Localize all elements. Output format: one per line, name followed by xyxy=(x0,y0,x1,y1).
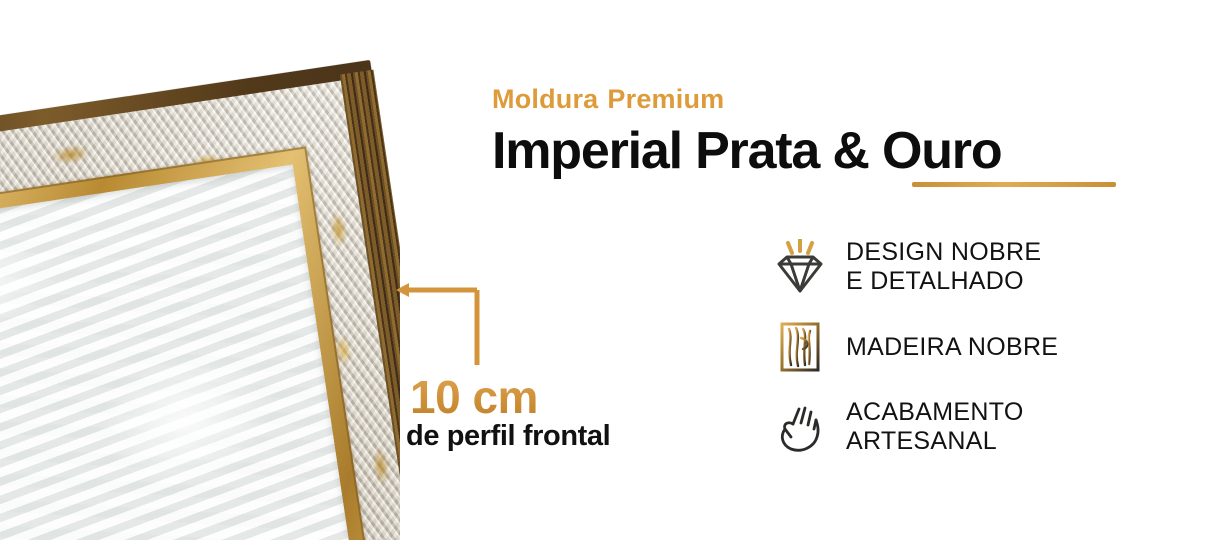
feature-label: DESIGN NOBRE E DETALHADO xyxy=(846,238,1041,296)
headline-block: MolduraPremium Imperial Prata & Ouro xyxy=(492,84,1152,179)
title-gold-underline xyxy=(912,182,1116,187)
page-title-row: Imperial Prata & Ouro xyxy=(492,124,1001,179)
feature-label: ACABAMENTO ARTESANAL xyxy=(846,398,1024,456)
diamond-sparkle-icon xyxy=(772,238,828,296)
eyebrow-word-premium: Premium xyxy=(607,84,724,114)
feature-item-acabamento-artesanal: ACABAMENTO ARTESANAL xyxy=(772,398,1172,456)
product-feature-banner: 10 cm de perfil frontal MolduraPremium I… xyxy=(0,0,1209,540)
feature-list: DESIGN NOBRE E DETALHADO xyxy=(772,238,1172,478)
eyebrow-word-moldura: Moldura xyxy=(492,84,598,114)
feature-item-design-nobre: DESIGN NOBRE E DETALHADO xyxy=(772,238,1172,296)
measurement-caption: de perfil frontal xyxy=(406,420,610,453)
left-elbow-arrow-icon xyxy=(392,272,492,372)
frame-stage xyxy=(0,60,400,540)
feature-item-madeira-nobre: MADEIRA NOBRE xyxy=(772,318,1172,376)
measurement-callout: 10 cm de perfil frontal xyxy=(392,272,692,472)
eyebrow-text: MolduraPremium xyxy=(492,84,1152,115)
product-photo-frame-corner xyxy=(0,0,400,540)
feature-label: MADEIRA NOBRE xyxy=(846,333,1058,362)
wood-grain-icon xyxy=(772,318,828,376)
open-hand-icon xyxy=(772,398,828,456)
measurement-value: 10 cm xyxy=(410,370,538,424)
page-title: Imperial Prata & Ouro xyxy=(492,124,1001,179)
